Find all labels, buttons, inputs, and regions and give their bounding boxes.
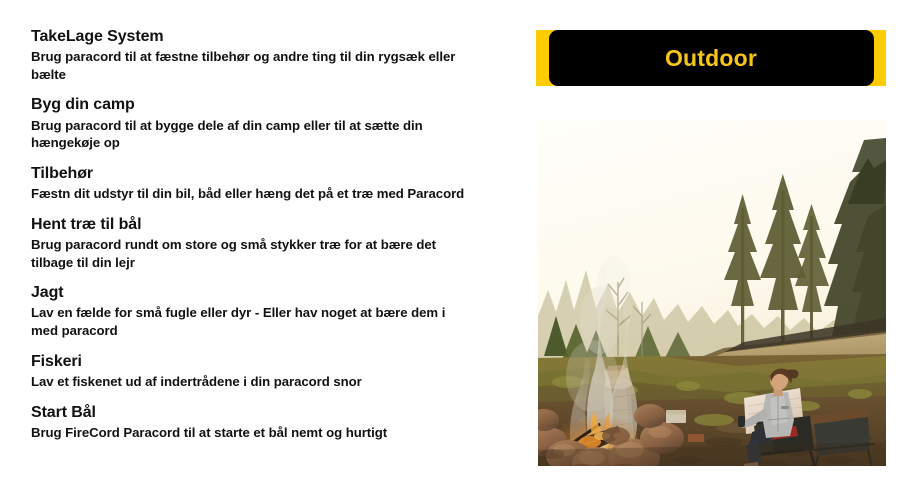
feature-title: TakeLage System [31,26,473,47]
feature-description: Brug paracord til at bygge dele af din c… [31,117,473,152]
feature-title: Start Bål [31,402,473,423]
feature-title: Hent træ til bål [31,214,473,235]
feature-description: Brug FireCord Paracord til at starte et … [31,424,473,442]
list-item: Start Bål Brug FireCord Paracord til at … [31,402,473,442]
banner-title: Outdoor [665,45,757,72]
feature-description: Fæstn dit udstyr til din bil, båd eller … [31,185,473,203]
slide-root: TakeLage System Brug paracord til at fæs… [0,0,920,500]
list-item: Jagt Lav en fælde for små fugle eller dy… [31,282,473,339]
feature-list: TakeLage System Brug paracord til at fæs… [31,26,473,441]
feature-title: Byg din camp [31,94,473,115]
feature-description: Lav en fælde for små fugle eller dyr - E… [31,304,473,339]
feature-title: Fiskeri [31,351,473,372]
outdoor-banner: Outdoor [536,30,886,86]
banner-inner-box: Outdoor [549,30,874,86]
campsite-photo [538,120,886,466]
feature-title: Jagt [31,282,473,303]
feature-description: Brug paracord rundt om store og små styk… [31,236,473,271]
list-item: Hent træ til bål Brug paracord rundt om … [31,214,473,271]
list-item: Byg din camp Brug paracord til at bygge … [31,94,473,151]
list-item: TakeLage System Brug paracord til at fæs… [31,26,473,83]
feature-title: Tilbehør [31,163,473,184]
list-item: Tilbehør Fæstn dit udstyr til din bil, b… [31,163,473,203]
list-item: Fiskeri Lav et fiskenet ud af indertråde… [31,351,473,391]
feature-description: Brug paracord til at fæstne tilbehør og … [31,48,473,83]
feature-description: Lav et fiskenet ud af indertrådene i din… [31,373,473,391]
